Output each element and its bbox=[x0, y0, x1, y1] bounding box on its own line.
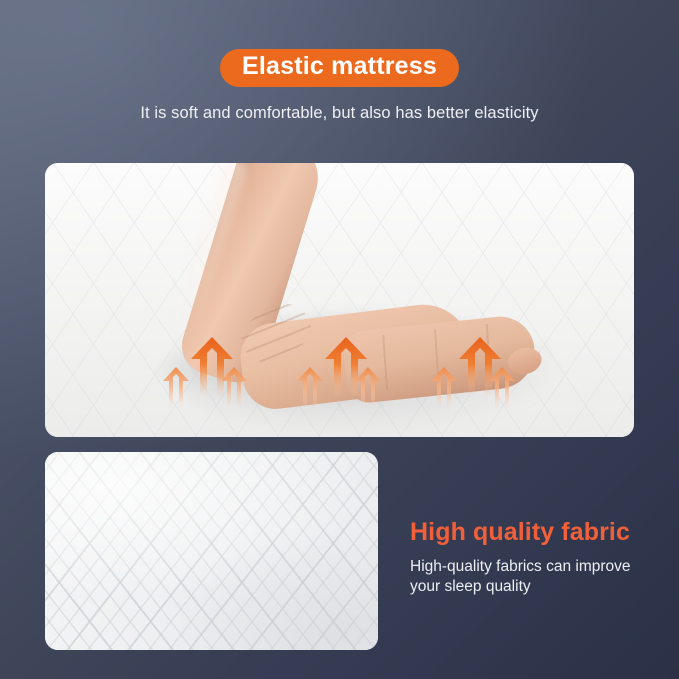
fabric-copy-block: High quality fabric High-quality fabrics… bbox=[410, 518, 662, 597]
page-title-badge: Elastic mattress bbox=[220, 49, 459, 87]
up-arrow-icon-small bbox=[353, 365, 383, 409]
up-arrow-icon-small bbox=[429, 365, 459, 409]
fabric-body: High-quality fabrics can improve your sl… bbox=[410, 557, 662, 597]
fabric-body-line-2: your sleep quality bbox=[410, 577, 662, 597]
page-subtitle: It is soft and comfortable, but also has… bbox=[0, 104, 679, 124]
up-arrow-icon-small bbox=[161, 365, 191, 409]
product-infographic-poster: Elastic mattress It is soft and comforta… bbox=[0, 0, 679, 679]
arrow-group bbox=[295, 331, 399, 423]
arrow-group bbox=[429, 331, 533, 423]
fabric-heading: High quality fabric bbox=[410, 518, 662, 548]
arrow-group bbox=[161, 331, 265, 423]
up-arrow-icon-small bbox=[295, 365, 325, 409]
fabric-body-line-1: High-quality fabrics can improve bbox=[410, 557, 662, 577]
fabric-sheen bbox=[45, 452, 378, 650]
elasticity-photo-card bbox=[45, 163, 634, 437]
rebound-arrows bbox=[45, 331, 634, 431]
up-arrow-icon-small bbox=[487, 365, 517, 409]
fabric-photo-card bbox=[45, 452, 378, 650]
up-arrow-icon-small bbox=[219, 365, 249, 409]
header: Elastic mattress It is soft and comforta… bbox=[0, 0, 679, 123]
